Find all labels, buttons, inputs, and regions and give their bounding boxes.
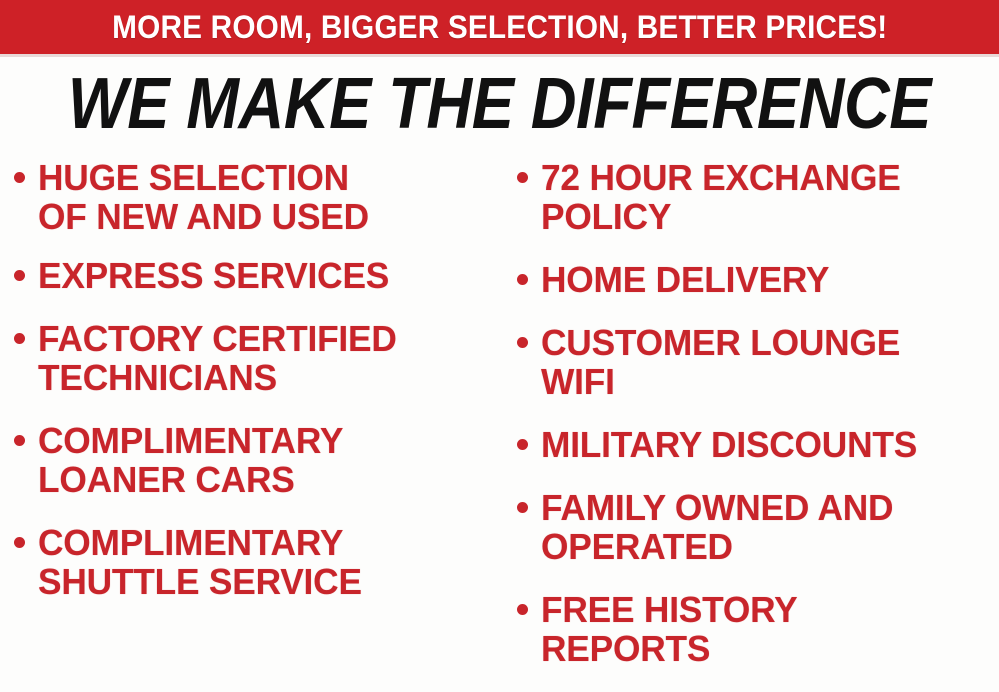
list-item-label: HUGE SELECTION OF NEW AND USED	[38, 158, 376, 236]
bullet-dot-icon	[14, 435, 25, 446]
advertisement-banner: MORE ROOM, BIGGER SELECTION, BETTER PRIC…	[0, 0, 999, 692]
list-item: FACTORY CERTIFIED TECHNICIANS	[14, 319, 505, 397]
list-item-label: MILITARY DISCOUNTS	[541, 425, 925, 464]
benefits-columns: HUGE SELECTION OF NEW AND USED EXPRESS S…	[0, 158, 999, 692]
list-item-label: COMPLIMENTARY LOANER CARS	[38, 421, 349, 499]
list-item-label: COMPLIMENTARY SHUTTLE SERVICE	[38, 523, 368, 601]
list-item-label: EXPRESS SERVICES	[38, 256, 396, 295]
list-item: 72 HOUR EXCHANGE POLICY	[517, 158, 999, 236]
page-title: WE MAKE THE DIFFERENCE	[60, 68, 939, 140]
list-item-label: HOME DELIVERY	[541, 260, 835, 299]
bullet-dot-icon	[517, 337, 528, 348]
bullet-dot-icon	[14, 270, 25, 281]
promo-banner: MORE ROOM, BIGGER SELECTION, BETTER PRIC…	[0, 0, 999, 54]
benefits-column-right: 72 HOUR EXCHANGE POLICY HOME DELIVERY CU…	[505, 158, 999, 692]
bullet-dot-icon	[14, 537, 25, 548]
bullet-dot-icon	[517, 502, 528, 513]
list-item-label: 72 HOUR EXCHANGE POLICY	[541, 158, 908, 236]
list-item: FREE HISTORY REPORTS	[517, 590, 999, 668]
list-item: CUSTOMER LOUNGE WIFI	[517, 323, 999, 401]
bullet-dot-icon	[517, 172, 528, 183]
bullet-dot-icon	[14, 172, 25, 183]
list-item-label: FREE HISTORY REPORTS	[541, 590, 803, 668]
list-item-label: CUSTOMER LOUNGE WIFI	[541, 323, 907, 401]
list-item-label: FAMILY OWNED AND OPERATED	[541, 488, 901, 566]
promo-banner-text: MORE ROOM, BIGGER SELECTION, BETTER PRIC…	[112, 11, 887, 43]
list-item: HOME DELIVERY	[517, 260, 999, 299]
bullet-dot-icon	[517, 274, 528, 285]
bullet-dot-icon	[517, 604, 528, 615]
list-item: HUGE SELECTION OF NEW AND USED	[14, 158, 505, 236]
bullet-dot-icon	[517, 439, 528, 450]
list-item: FAMILY OWNED AND OPERATED	[517, 488, 999, 566]
list-item: COMPLIMENTARY LOANER CARS	[14, 421, 505, 499]
list-item: EXPRESS SERVICES	[14, 256, 505, 295]
bullet-dot-icon	[14, 333, 25, 344]
list-item: MILITARY DISCOUNTS	[517, 425, 999, 464]
banner-divider	[0, 54, 999, 57]
benefits-column-left: HUGE SELECTION OF NEW AND USED EXPRESS S…	[0, 158, 505, 625]
list-item: COMPLIMENTARY SHUTTLE SERVICE	[14, 523, 505, 601]
list-item-label: FACTORY CERTIFIED TECHNICIANS	[38, 319, 404, 397]
